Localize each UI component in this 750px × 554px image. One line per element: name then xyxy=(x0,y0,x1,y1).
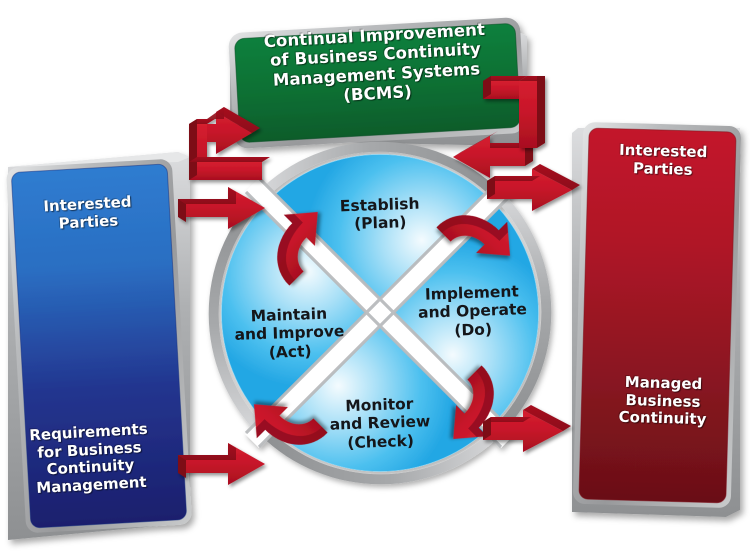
arrow-requirements-into-cycle xyxy=(178,443,265,485)
diagram-graphics xyxy=(0,0,750,554)
pdca-cycle-graphic xyxy=(137,70,622,554)
bcms-pdca-diagram: Continual Improvement of Business Contin… xyxy=(0,0,750,554)
right-panel-graphic xyxy=(572,122,741,517)
continual-improvement-banner-graphic xyxy=(228,17,527,149)
left-panel-graphic xyxy=(6,152,192,540)
